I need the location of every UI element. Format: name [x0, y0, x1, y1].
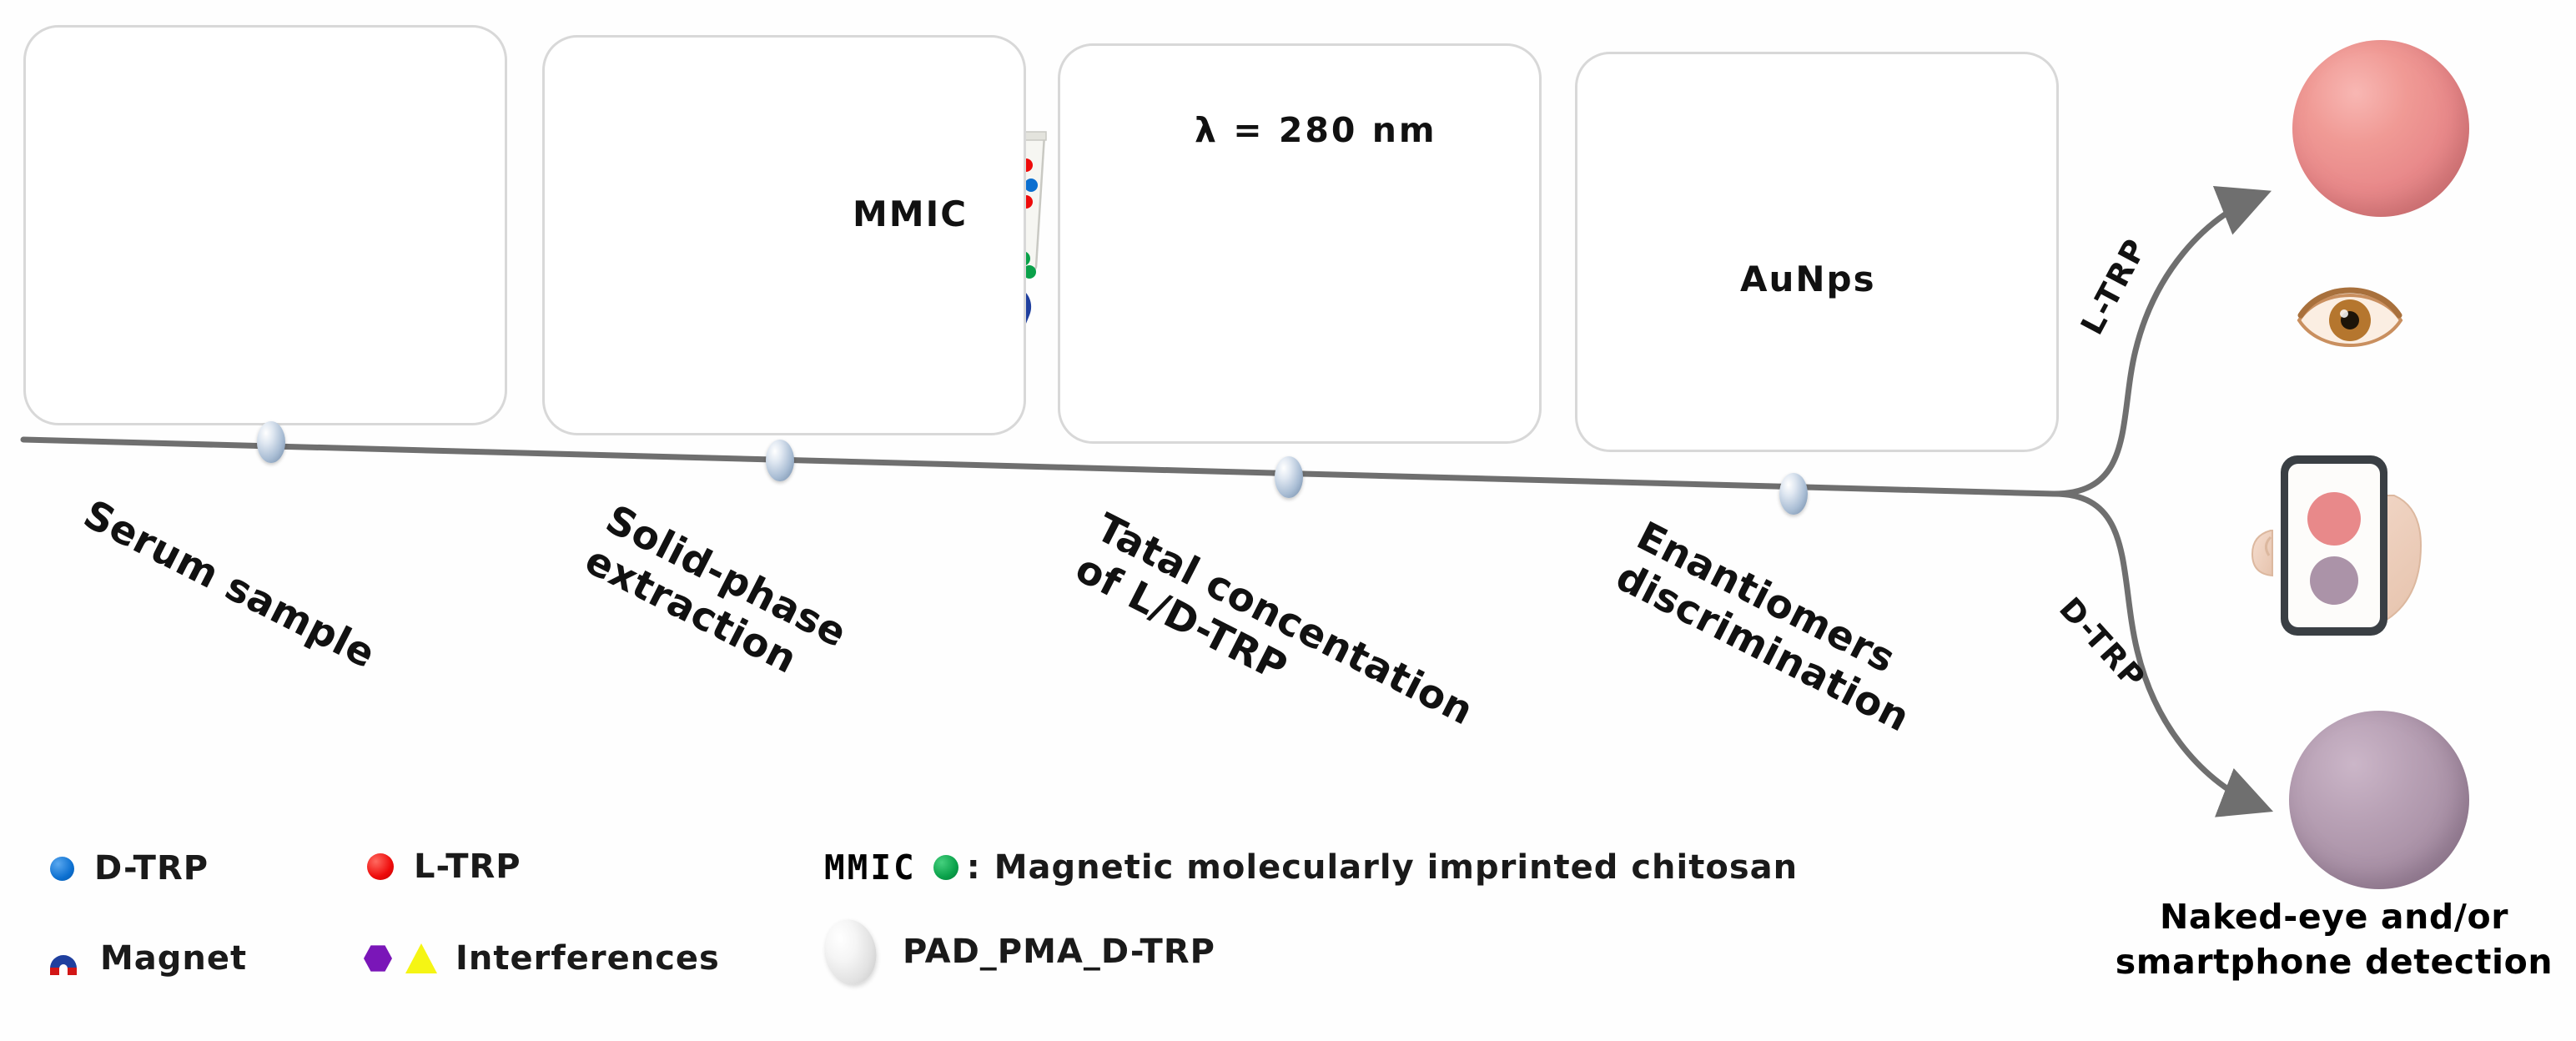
smartphone-in-hand-icon: [2252, 455, 2421, 636]
legend-mmic-definition: Magnetic molecularly imprinted chitosan: [994, 848, 1798, 887]
timeline-node-2[interactable]: [766, 440, 794, 481]
legend-pad-label: PAD_PMA_D-TRP: [903, 933, 1215, 971]
pad-disc-icon: [820, 915, 883, 989]
aunps-arrow-label: AuNps: [1740, 259, 1876, 299]
legend-mmic-abbr: MMIC: [824, 847, 917, 888]
purple-sphere: [2289, 711, 2469, 889]
branch-label-d-trp: D-TRP: [2052, 591, 2152, 697]
branch-label-l-trp: L-TRP: [2074, 232, 2154, 340]
legend-label-magnet: Magnet: [100, 939, 247, 978]
panel-enantiomer: [1575, 52, 2059, 452]
hexagon-icon: [364, 944, 392, 973]
legend-mmic-separator: :: [967, 848, 981, 887]
legend-label-d-trp: D-TRP: [94, 849, 209, 888]
panel-extraction: [542, 35, 1026, 435]
blue-circle-icon: [50, 857, 74, 881]
legend-item-pad: PAD_PMA_D-TRP: [826, 919, 1215, 984]
legend-label-interferences: Interferences: [455, 939, 720, 978]
timeline-node-4[interactable]: [1779, 473, 1808, 515]
magnet-icon: [47, 942, 82, 975]
mmic-arrow-label: MMIC: [853, 194, 968, 234]
triangle-icon: [405, 943, 437, 973]
red-circle-icon: [367, 853, 394, 880]
green-circle-icon: [933, 855, 958, 880]
legend: D-TRP L-TRP Magnet Interferences MMIC : …: [0, 826, 2002, 1018]
legend-item-interferences: Interferences: [364, 939, 720, 978]
legend-label-l-trp: L-TRP: [414, 847, 521, 886]
legend-item-l-trp: L-TRP: [367, 847, 521, 886]
legend-item-mmic: MMIC : Magnetic molecularly imprinted ch…: [824, 847, 1798, 888]
timeline-node-1[interactable]: [257, 421, 285, 463]
legend-item-d-trp: D-TRP: [50, 849, 209, 888]
figure-canvas: MMIC λ = 280 nm AuNps Serum sample Solid…: [0, 0, 2576, 1041]
step-label-4: Enantiomers discrimination: [1609, 514, 1938, 742]
timeline-node-3[interactable]: [1275, 456, 1303, 498]
eye-icon: [2299, 290, 2401, 345]
panel-spectro: [1058, 43, 1542, 444]
lambda-label: λ = 280 nm: [1195, 110, 1437, 150]
step-label-2: Solid-phase extraction: [578, 497, 854, 697]
pink-sphere: [2292, 40, 2469, 217]
detection-caption: Naked-eye and/or smartphone detection: [2106, 894, 2563, 984]
panel-serum: [23, 25, 507, 425]
step-label-3: Tatal concentation of L/D-TRP: [1069, 505, 1481, 776]
legend-item-magnet: Magnet: [47, 939, 247, 978]
step-label-1: Serum sample: [76, 492, 382, 678]
